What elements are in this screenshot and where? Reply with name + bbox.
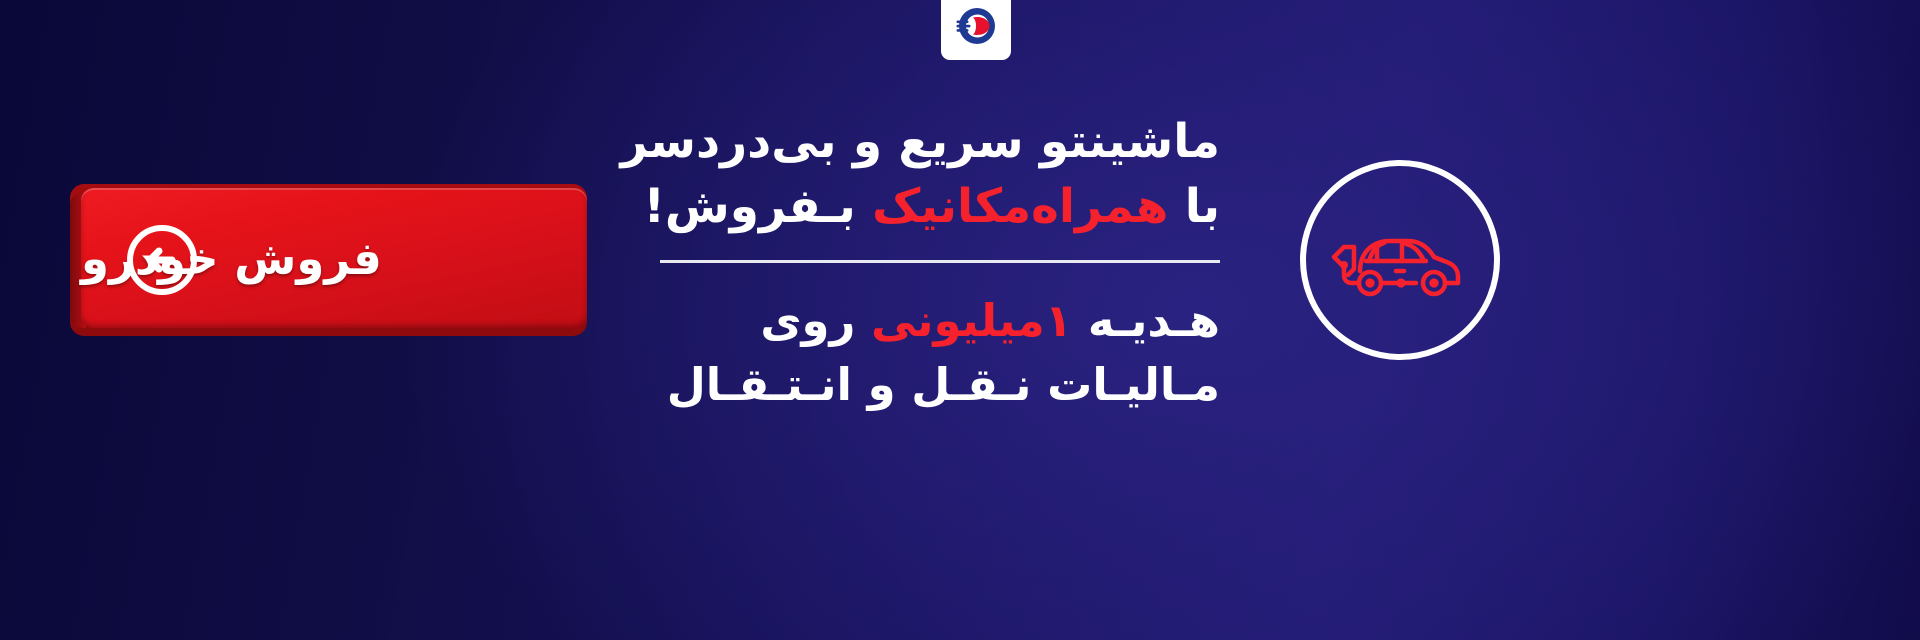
logo-icon xyxy=(951,1,1001,51)
offer-amount-accent: ۱میلیونی xyxy=(871,294,1072,347)
headline-line-2-prefix: با xyxy=(1168,179,1220,234)
headline-line-2: با همراه‌مکانیک بـفروش! xyxy=(620,175,1220,240)
headline-brand-accent: همراه‌مکانیک xyxy=(872,179,1168,234)
offer-line-2: مـالیـات نـقـل و انـتـقـال xyxy=(620,353,1220,417)
offer-line-1-suffix: روی xyxy=(760,294,871,347)
copy-block: ماشینتو سریع و بی‌دردسر با همراه‌مکانیک … xyxy=(620,110,1220,417)
offer-line-1: هـدیـه ۱میلیونی روی xyxy=(620,289,1220,353)
headline-line-2-suffix: بـفروش! xyxy=(643,179,872,234)
headline-line-1: ماشینتو سریع و بی‌دردسر xyxy=(620,110,1220,175)
brand-logo[interactable] xyxy=(941,0,1011,60)
car-icon-badge xyxy=(1300,160,1500,360)
promo-banner: فروش خودرو ماشینتو سریع و بی‌دردسر با هم… xyxy=(0,0,1920,640)
circle-arrow-left-icon xyxy=(125,223,199,297)
section-divider xyxy=(660,260,1220,263)
sell-car-button[interactable]: فروش خودرو xyxy=(70,184,587,336)
offer-line-1-prefix: هـدیـه xyxy=(1072,294,1220,347)
